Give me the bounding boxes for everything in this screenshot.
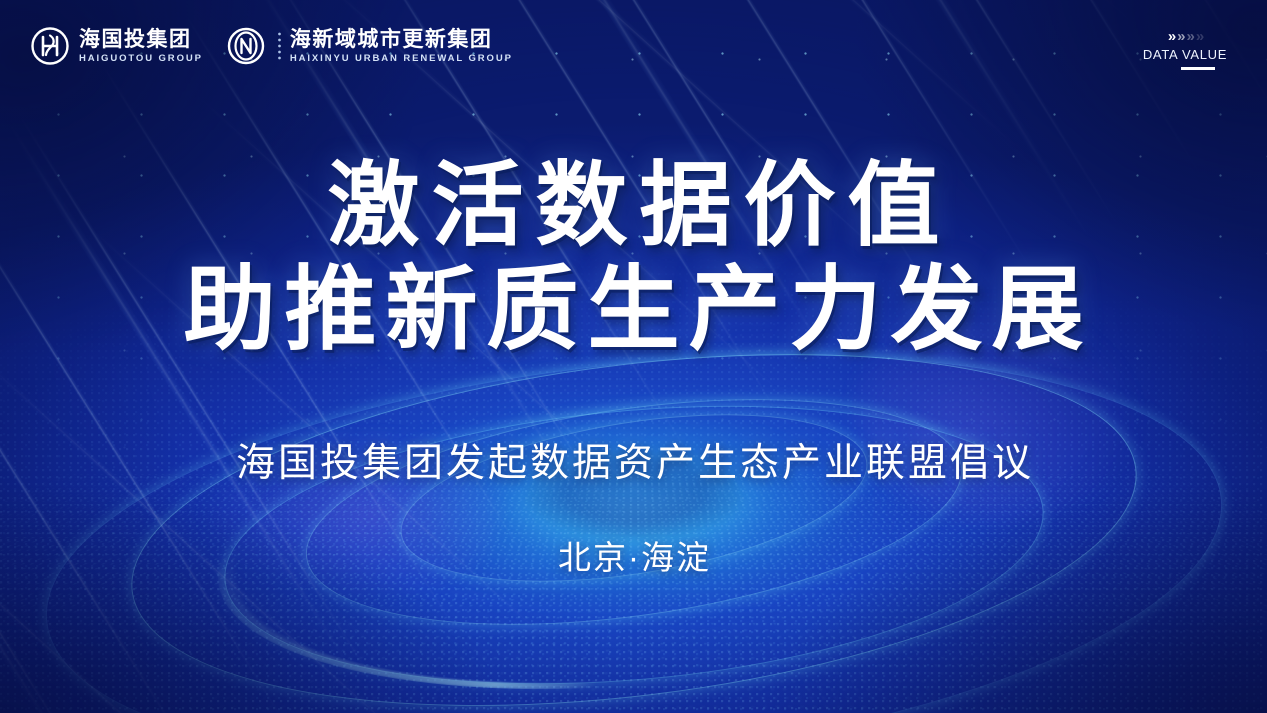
logo-haixinyu-cn: 海新域城市更新集团 (290, 29, 513, 50)
logo-haixinyu-en: HAIXINYU URBAN RENEWAL GROUP (290, 54, 513, 64)
headline-block: 激活数据价值 助推新质生产力发展 (0, 160, 1267, 356)
haiguotou-circle-h-icon (30, 26, 70, 66)
headline-line-1: 激活数据价值 (0, 160, 1267, 252)
headline-line-2: 助推新质生产力发展 (0, 264, 1267, 356)
poster-content: 激活数据价值 助推新质生产力发展 海国投集团发起数据资产生态产业联盟倡议 北京·… (0, 0, 1267, 713)
logo-haixinyu[interactable]: 海新域城市更新集团 HAIXINYU URBAN RENEWAL GROUP (227, 26, 513, 66)
logo-haiguotou-text: 海国投集团 HAIGUOTOU GROUP (79, 29, 203, 64)
double-chevron-right-icon: » (1168, 29, 1174, 44)
logo-haiguotou-cn: 海国投集团 (79, 29, 203, 50)
data-value-label: DATA VALUE (1125, 47, 1245, 62)
logo-haiguotou[interactable]: 海国投集团 HAIGUOTOU GROUP (30, 26, 203, 66)
poster-header: 海国投集团 HAIGUOTOU GROUP 海新域城市更新集团 HAIXINYU… (0, 0, 1267, 96)
double-chevron-right-icon: » (1177, 29, 1183, 44)
logo-haixinyu-text: 海新域城市更新集团 HAIXINYU URBAN RENEWAL GROUP (290, 29, 513, 64)
double-chevron-right-icon: » (1196, 29, 1202, 44)
poster-canvas: 海国投集团 HAIGUOTOU GROUP 海新域城市更新集团 HAIXINYU… (0, 0, 1267, 713)
data-value-badge: » » » » DATA VALUE (1125, 28, 1245, 70)
logo-haiguotou-en: HAIGUOTOU GROUP (79, 54, 203, 64)
haixinyu-circle-n-icon (227, 26, 267, 66)
double-chevron-right-icon: » (1187, 29, 1193, 44)
logo-group: 海国投集团 HAIGUOTOU GROUP 海新域城市更新集团 HAIXINYU… (30, 26, 513, 66)
poster-subtitle: 海国投集团发起数据资产生态产业联盟倡议 (0, 432, 1267, 488)
logo-divider-dots (278, 31, 281, 61)
poster-location: 北京·海淀 (0, 531, 1267, 579)
data-value-underline (1181, 67, 1215, 70)
chevron-row: » » » » (1125, 28, 1245, 44)
